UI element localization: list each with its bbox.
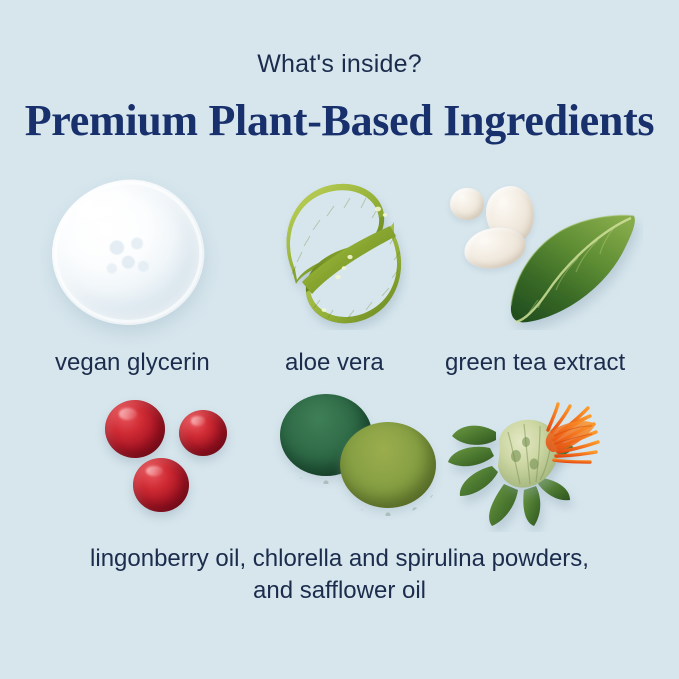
glycerin-gel-drop-image — [30, 172, 256, 332]
ingredients-row-one — [0, 172, 679, 332]
chlorella-powder-pile — [340, 422, 436, 508]
ingredient-card-vegan-glycerin — [30, 172, 256, 332]
ingredients-caption: lingonberry oil, chlorella and spirulina… — [0, 543, 679, 607]
berry — [133, 458, 189, 512]
safflower-bud-image — [430, 392, 610, 537]
berry — [105, 400, 165, 458]
caption-line-2: and safflower oil — [0, 575, 679, 607]
ingredient-card-aloe-vera — [256, 172, 426, 332]
page-title: Premium Plant-Based Ingredients — [0, 95, 679, 146]
ingredients-row-two — [0, 392, 679, 537]
ingredients-poster: What's inside? Premium Plant-Based Ingre… — [0, 0, 679, 679]
aloe-vera-leaf-strips-image — [256, 172, 426, 332]
tea-leaf-svg — [438, 178, 643, 330]
powder-grain-texture — [332, 414, 444, 516]
safflower-svg — [438, 392, 606, 532]
aloe-leaf-svg — [262, 174, 422, 330]
ingredient-label-vegan-glycerin: vegan glycerin — [55, 349, 210, 377]
berry — [179, 410, 227, 456]
caption-line-1: lingonberry oil, chlorella and spirulina… — [0, 543, 679, 575]
eyebrow-text: What's inside? — [0, 50, 679, 79]
ingredient-card-lingonberries — [95, 392, 290, 537]
green-tea-leaf-and-oil-droplets-image — [426, 172, 656, 332]
lingonberries-image — [95, 392, 290, 537]
ingredient-label-aloe-vera: aloe vera — [285, 349, 384, 377]
ingredient-card-safflower — [430, 392, 610, 537]
ingredient-label-green-tea-extract: green tea extract — [445, 349, 625, 377]
ingredient-card-green-tea-extract — [426, 172, 656, 332]
